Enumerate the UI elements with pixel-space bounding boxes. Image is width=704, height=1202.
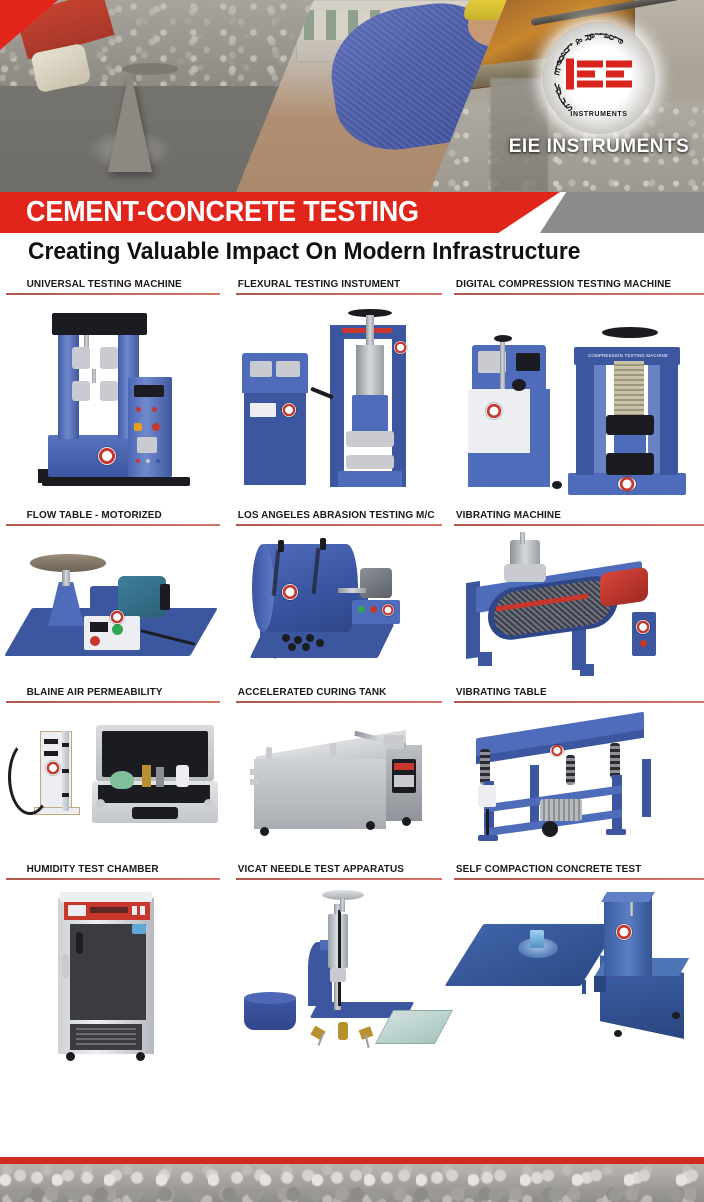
- product-card-flexural-testing-instrument[interactable]: FLEXURAL TESTING INSTUMENT: [234, 278, 454, 509]
- product-card-vicat-needle-test-apparatus[interactable]: VICAT NEEDLE TEST APPARATUS: [234, 863, 454, 1065]
- product-card-los-angeles-abrasion-testing-machine[interactable]: LOS ANGELES ABRASION TESTING M/C: [234, 509, 454, 686]
- accelerated-curing-tank-image: [234, 703, 454, 863]
- slump-cone-top: [122, 63, 178, 75]
- title-red-banner: CEMENT-CONCRETE TESTING: [0, 192, 560, 233]
- logo-tagline-char: e: [615, 36, 627, 47]
- product-grid: UNIVERSAL TESTING MACHINE: [0, 278, 704, 1065]
- monogram-bar: [577, 70, 595, 77]
- product-card-humidity-test-chamber[interactable]: HUMIDITY TEST CHAMBER: [0, 863, 234, 1065]
- monogram-bars-left: [577, 60, 603, 87]
- footer-red-strip: [0, 1157, 704, 1164]
- product-label: VICAT NEEDLE TEST APPARATUS: [234, 863, 443, 875]
- product-label: FLOW TABLE - MOTORIZED: [0, 509, 222, 521]
- monogram-bar: [606, 70, 624, 77]
- page-title: CEMENT-CONCRETE TESTING: [0, 196, 419, 229]
- digital-compression-testing-machine-image: COMPRESSION TESTING MACHINE: [454, 295, 704, 509]
- footer-band: [0, 1157, 704, 1202]
- product-label: FLEXURAL TESTING INSTUMENT: [234, 278, 443, 290]
- universal-testing-machine-image: [0, 295, 234, 509]
- product-row: BLAINE AIR PERMEABILITY: [0, 686, 704, 863]
- monogram-bar: [606, 60, 632, 67]
- vibrating-table-image: [454, 703, 704, 863]
- monogram-bar: [577, 60, 603, 67]
- product-label: SELF COMPACTION CONCRETE TEST: [454, 863, 692, 875]
- header-photo-banner: Sturdy, Elegant & Reliable INSTRUMENTS E…: [0, 0, 704, 192]
- title-band: CEMENT-CONCRETE TESTING Creating Valuabl…: [0, 192, 704, 278]
- product-label: VIBRATING MACHINE: [454, 509, 692, 521]
- product-label: DIGITAL COMPRESSION TESTING MACHINE: [454, 278, 692, 290]
- los-angeles-abrasion-testing-machine-image: [234, 526, 454, 686]
- product-card-vibrating-machine[interactable]: VIBRATING MACHINE: [454, 509, 704, 686]
- vicat-needle-test-apparatus-image: [234, 880, 454, 1065]
- product-row: FLOW TABLE - MOTORIZED LOS ANGELES ABRAS…: [0, 509, 704, 686]
- logo-sub-label: INSTRUMENTS: [543, 111, 655, 118]
- product-label: BLAINE AIR PERMEABILITY: [0, 686, 222, 698]
- product-label: VIBRATING TABLE: [454, 686, 692, 698]
- self-compaction-concrete-test-image: [454, 880, 704, 1065]
- footer-aggregate-texture: [0, 1164, 704, 1202]
- title-grey-wedge: [540, 192, 704, 233]
- product-label: ACCELERATED CURING TANK: [234, 686, 443, 698]
- product-card-flow-table-motorized[interactable]: FLOW TABLE - MOTORIZED: [0, 509, 234, 686]
- product-card-blaine-air-permeability[interactable]: BLAINE AIR PERMEABILITY: [0, 686, 234, 863]
- product-row: UNIVERSAL TESTING MACHINE: [0, 278, 704, 509]
- monogram-bar: [577, 80, 603, 87]
- product-card-vibrating-table[interactable]: VIBRATING TABLE: [454, 686, 704, 863]
- product-card-digital-compression-testing-machine[interactable]: DIGITAL COMPRESSION TESTING MACHINE: [454, 278, 704, 509]
- red-corner-accent: [0, 0, 58, 50]
- product-card-self-compaction-concrete-test[interactable]: SELF COMPACTION CONCRETE TEST: [454, 863, 704, 1065]
- product-label: LOS ANGELES ABRASION TESTING M/C: [234, 509, 443, 521]
- monogram-bars-right: [606, 60, 632, 87]
- flow-table-motorized-image: [0, 526, 234, 686]
- eie-monogram-icon: [566, 58, 632, 89]
- logo-wordmark: EIE INSTRUMENTS: [504, 136, 694, 158]
- product-label: UNIVERSAL TESTING MACHINE: [0, 278, 222, 290]
- product-card-accelerated-curing-tank[interactable]: ACCELERATED CURING TANK: [234, 686, 454, 863]
- machine-body-text: COMPRESSION TESTING MACHINE: [586, 352, 670, 360]
- flexural-testing-instrument-image: [234, 295, 454, 509]
- product-label: HUMIDITY TEST CHAMBER: [0, 863, 222, 875]
- page-subtitle: Creating Valuable Impact On Modern Infra…: [28, 238, 580, 266]
- blaine-air-permeability-image: [0, 703, 234, 863]
- slump-cone: [108, 68, 152, 172]
- product-row: HUMIDITY TEST CHAMBER VICAT: [0, 863, 704, 1065]
- logo-badge: Sturdy, Elegant & Reliable INSTRUMENTS: [543, 22, 655, 134]
- vibrating-machine-image: [454, 526, 704, 686]
- humidity-test-chamber-image: [0, 880, 234, 1065]
- company-logo: Sturdy, Elegant & Reliable INSTRUMENTS E…: [504, 22, 694, 158]
- monogram-bar: [606, 80, 632, 87]
- product-card-universal-testing-machine[interactable]: UNIVERSAL TESTING MACHINE: [0, 278, 234, 509]
- monogram-stem-left: [566, 58, 574, 89]
